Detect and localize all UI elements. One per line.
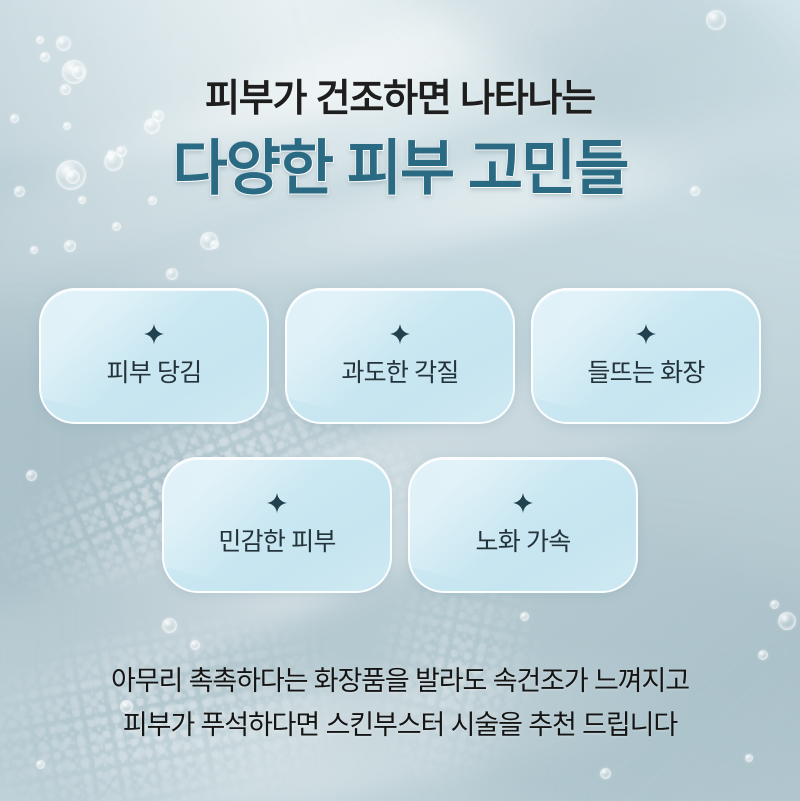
sparkle-icon bbox=[389, 323, 411, 345]
sparkle-icon bbox=[143, 323, 165, 345]
concern-card-grid: 피부 당김 과도한 각질 들뜨는 화장 민감한 피부 bbox=[0, 288, 800, 593]
concern-card-label: 과도한 각질 bbox=[341, 353, 458, 389]
headline-block: 피부가 건조하면 나타나는 다양한 피부 고민들 bbox=[0, 78, 800, 202]
concern-card-label: 피부 당김 bbox=[107, 353, 202, 389]
concern-card-label: 민감한 피부 bbox=[218, 522, 335, 558]
sparkle-icon bbox=[266, 492, 288, 514]
concern-card-label: 들뜨는 화장 bbox=[587, 353, 704, 389]
concern-card-excess-dead-skin[interactable]: 과도한 각질 bbox=[285, 288, 515, 424]
concern-card-patchy-makeup[interactable]: 들뜨는 화장 bbox=[531, 288, 761, 424]
sparkle-icon bbox=[512, 492, 534, 514]
footer-copy-line-2: 피부가 푸석하다면 스킨부스터 시술을 추천 드립니다 bbox=[0, 704, 800, 748]
footer-copy-line-1: 아무리 촉촉하다는 화장품을 발라도 속건조가 느껴지고 bbox=[0, 660, 800, 704]
headline-title: 다양한 피부 고민들 bbox=[0, 136, 800, 202]
concern-card-row-2: 민감한 피부 노화 가속 bbox=[0, 457, 800, 593]
concern-card-row-1: 피부 당김 과도한 각질 들뜨는 화장 bbox=[0, 288, 800, 424]
concern-card-label: 노화 가속 bbox=[476, 522, 571, 558]
sparkle-icon bbox=[635, 323, 657, 345]
promo-banner: 피부가 건조하면 나타나는 다양한 피부 고민들 피부 당김 과도한 각질 bbox=[0, 0, 800, 801]
concern-card-sensitive-skin[interactable]: 민감한 피부 bbox=[162, 457, 392, 593]
headline-subtitle: 피부가 건조하면 나타나는 bbox=[0, 78, 800, 122]
concern-card-accelerated-aging[interactable]: 노화 가속 bbox=[408, 457, 638, 593]
concern-card-skin-tightness[interactable]: 피부 당김 bbox=[39, 288, 269, 424]
footer-copy-block: 아무리 촉촉하다는 화장품을 발라도 속건조가 느껴지고 피부가 푸석하다면 스… bbox=[0, 660, 800, 747]
